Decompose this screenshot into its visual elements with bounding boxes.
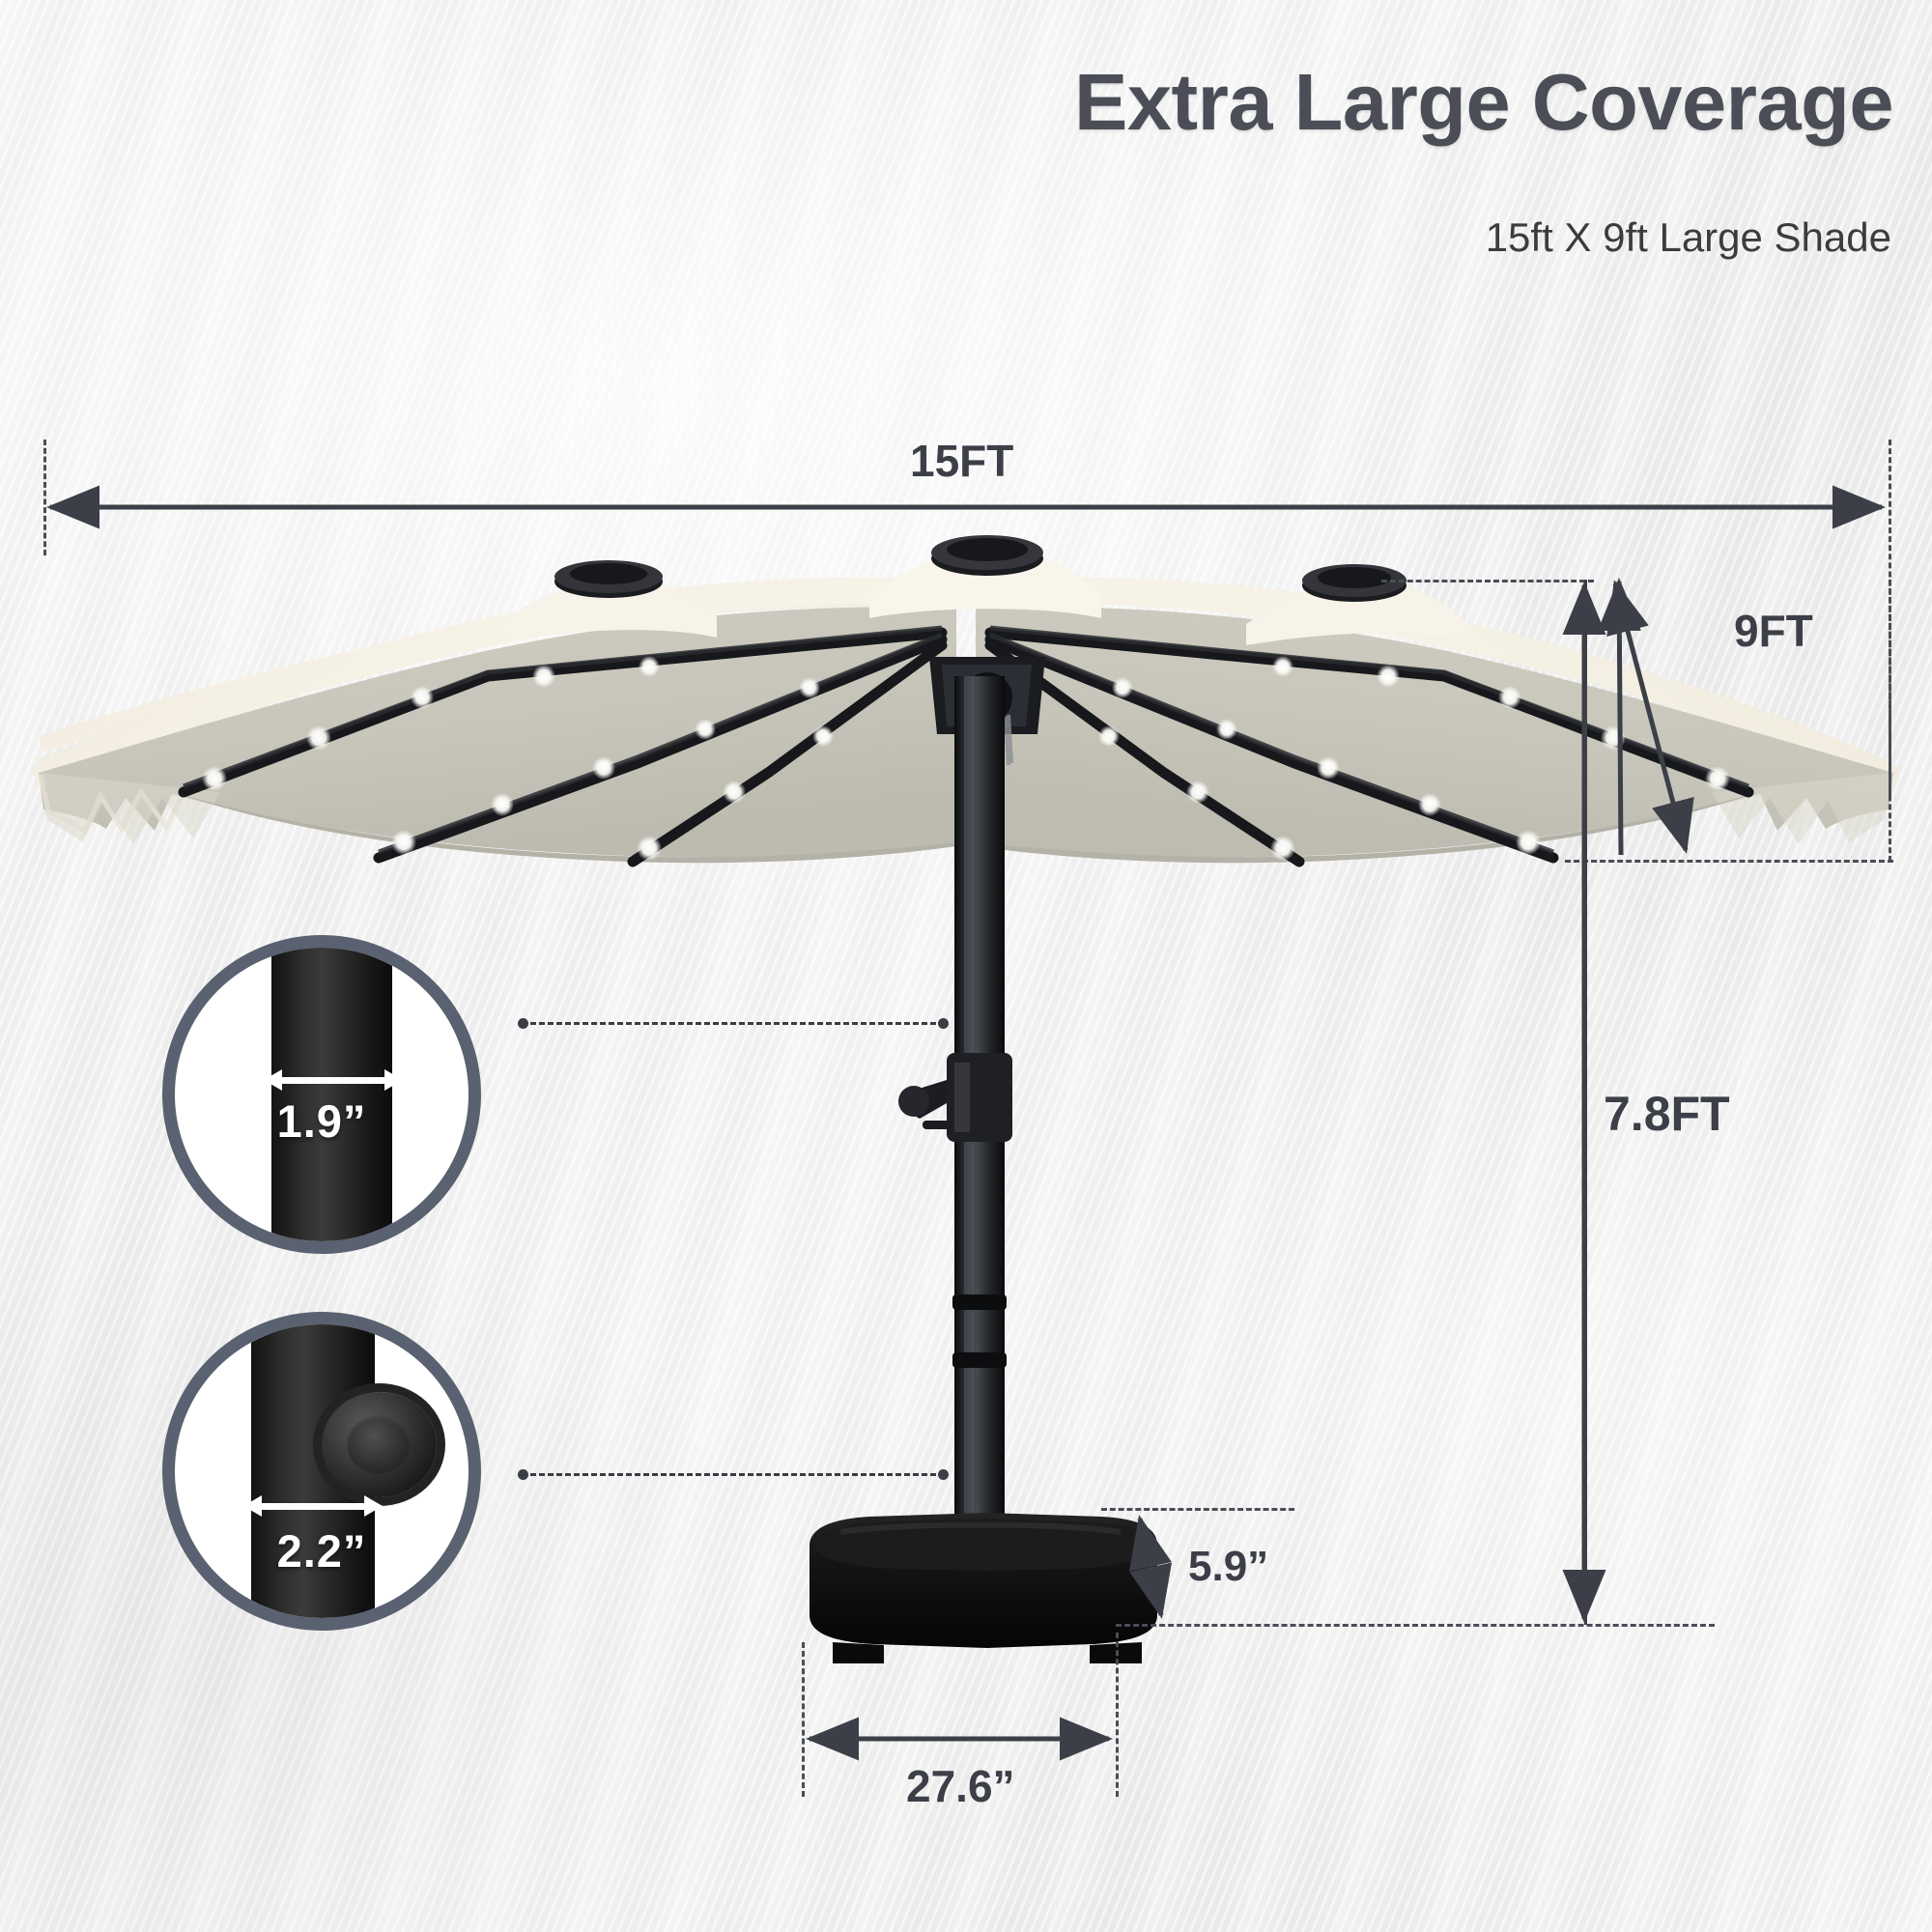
dimension-label-width: 15FT (910, 435, 1013, 487)
guide-9ft-top (1381, 580, 1594, 582)
detail-circle-knob-image: 2.2” (175, 1324, 469, 1618)
lower-pole-diameter-arrow (260, 1503, 365, 1510)
page-subtitle: 15ft X 9ft Large Shade (1486, 214, 1891, 261)
tightening-knob-icon (322, 1392, 437, 1497)
infographic-page: Extra Large Coverage 15ft X 9ft Large Sh… (0, 0, 1932, 1932)
leader-line-pole-diameter (522, 1022, 945, 1025)
guide-276-left-tick (802, 1642, 805, 1797)
pole-collar-upper (952, 1294, 1007, 1310)
guide-9ft-right (1889, 580, 1891, 862)
dimension-label-base-height: 5.9” (1188, 1543, 1268, 1591)
guide-78ft-axis (1584, 580, 1587, 1625)
lower-pole-diameter-label: 2.2” (175, 1524, 469, 1577)
leader-line-lower-pole (522, 1473, 945, 1476)
detail-circle-pole-diameter: 1.9” (162, 935, 481, 1254)
detail-circle-lower-pole: 2.2” (162, 1312, 481, 1631)
pole-diameter-arrow (280, 1077, 385, 1084)
dimension-label-depth: 9FT (1734, 605, 1813, 657)
pole-diameter-label: 1.9” (175, 1094, 469, 1148)
dimension-label-height: 7.8FT (1604, 1086, 1730, 1142)
page-title: Extra Large Coverage (1074, 56, 1893, 149)
hub-chain (1006, 715, 1011, 765)
pole-collar-lower (952, 1352, 1007, 1368)
detail-circle-pole-image: 1.9” (175, 948, 469, 1241)
guide-9ft-bottom (1565, 860, 1893, 863)
guide-276-right-tick (1116, 1633, 1119, 1797)
guide-59-top (1101, 1508, 1294, 1511)
dimension-label-base-width: 27.6” (906, 1760, 1015, 1812)
guide-15ft-left-tick (43, 440, 46, 555)
guide-78ft-baseline (1116, 1624, 1715, 1627)
